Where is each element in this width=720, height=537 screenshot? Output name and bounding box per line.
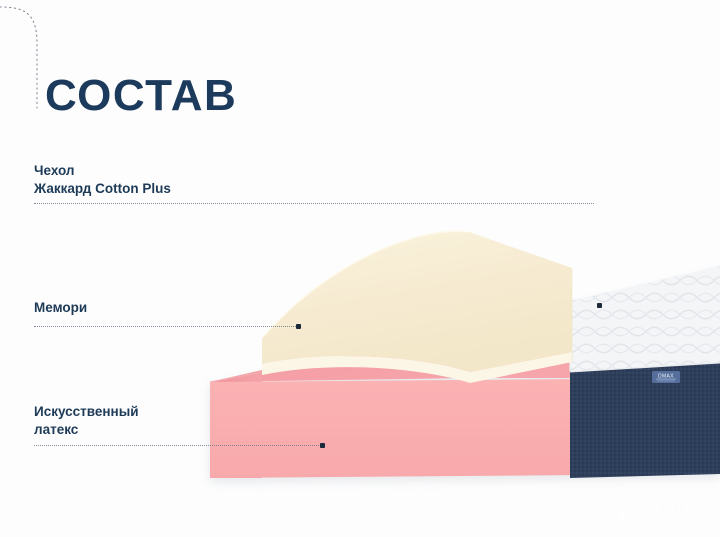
leader-endpoint-memory [296,324,301,329]
leader-endpoint-cover [597,303,602,308]
callout-cover-line2: Жаккард Cotton Plus [34,180,171,198]
avito-logo-icon [615,498,639,522]
avito-watermark: Avito [615,494,706,525]
brand-tag: DMAX [652,371,680,383]
callout-label-memory: Мемори [34,299,87,317]
leader-line-memory [34,326,296,328]
avito-watermark-text: Avito [644,494,706,525]
page-title: СОСТАВ [45,74,237,118]
leader-line-latex [34,445,321,447]
callout-label-cover: Чехол Жаккард Cotton Plus [34,162,171,197]
layer-cream-memory-foam [262,231,572,383]
leader-line-cover [34,203,594,205]
layer-navy-side-panel: DMAX [570,362,720,478]
leader-endpoint-latex [320,443,325,448]
callout-memory-line1: Мемори [34,299,87,317]
composition-infographic: DMAX СОСТАВ Чехол Жаккард Cotton Plus [0,0,720,537]
callout-label-latex: Искусственный латекс [34,403,139,438]
callout-latex-line1: Искусственный [34,403,139,421]
callout-cover-line1: Чехол [34,162,171,180]
callout-latex-line2: латекс [34,421,139,439]
layer-white-quilted-cover [570,265,720,371]
